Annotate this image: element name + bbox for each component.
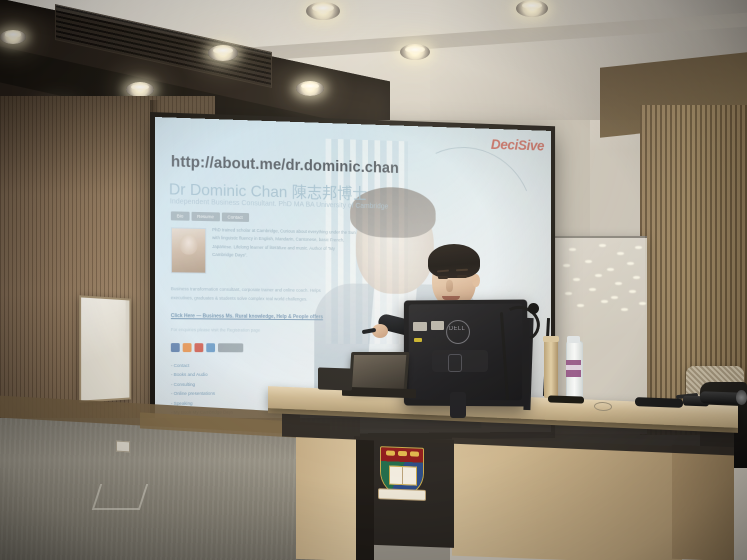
dell-logo-text: DELL xyxy=(447,326,467,332)
crest-lion-3 xyxy=(410,451,419,456)
floor-marking xyxy=(92,484,148,510)
slide-list-item-1: Contact xyxy=(171,361,233,370)
marker-pen-2 xyxy=(635,397,683,408)
tumbler-cup xyxy=(544,338,558,398)
email-icon xyxy=(218,343,243,352)
monitor-label-2 xyxy=(431,321,444,330)
av-control-box[interactable] xyxy=(318,367,352,390)
handheld-microphone-grille xyxy=(736,390,747,405)
slide-bio-paragraph: PhD trained scholar at Cambridge, Curiou… xyxy=(212,226,356,261)
water-bottle-label-band xyxy=(566,365,581,370)
ceiling-downlight-3 xyxy=(516,0,548,17)
weibo-icon xyxy=(206,343,215,352)
slide-tab-contact: Contact xyxy=(222,212,249,221)
ceiling-downlight-7 xyxy=(296,81,324,96)
slide-list-item-3: Consulting xyxy=(171,380,233,389)
monitor-neck xyxy=(450,392,466,418)
gooseneck-microphone-head xyxy=(528,303,539,314)
ceiling-downlight-4 xyxy=(208,45,238,61)
slide-profile-thumbnail xyxy=(171,227,206,273)
marker-pen-1 xyxy=(548,395,584,403)
twitter-icon xyxy=(194,343,203,352)
slide-tab-resume: Resume xyxy=(191,212,219,222)
tumbler-lid xyxy=(543,336,559,342)
linkedin-icon xyxy=(183,343,192,352)
presenter-ear xyxy=(472,274,480,287)
ceiling-downlight-6 xyxy=(126,82,154,97)
crest-motto-scroll xyxy=(378,488,426,501)
laptop-screen xyxy=(352,355,406,389)
slide-social-icon-row xyxy=(171,343,243,352)
crest-open-book-icon xyxy=(389,466,417,486)
lectern-body-left xyxy=(296,437,356,560)
slide-caption: For enquiries please visit the Registrat… xyxy=(171,327,260,333)
crest-lion-2 xyxy=(398,451,407,456)
presenter-nose xyxy=(446,280,453,292)
whiteboard-left-sheen xyxy=(81,298,126,397)
presenter-eye-left xyxy=(438,276,448,279)
presenter-hair xyxy=(428,244,480,278)
lecture-hall-screenshot: DeciSive http://about.me/dr.dominic.chan… xyxy=(0,0,747,560)
water-bottle-cap xyxy=(567,336,580,343)
cable-ring xyxy=(594,402,612,412)
monitor-sticker-led xyxy=(414,338,422,342)
slide-list-item-2: Books and Audio xyxy=(171,370,233,379)
ceiling-downlight-2 xyxy=(306,2,340,20)
lectern-body-far-right xyxy=(672,445,734,560)
ceiling-downlight-5 xyxy=(400,44,430,60)
facebook-icon xyxy=(171,343,180,352)
slide-tab-bio: Bio xyxy=(171,211,189,220)
slide-link-line: Click Here — Business Ms. Rural knowledg… xyxy=(171,313,323,320)
decisive-logo: DeciSive xyxy=(491,136,544,154)
ceiling-downlight-1 xyxy=(0,30,26,44)
wall-power-outlet xyxy=(116,441,130,453)
lectern-body-right xyxy=(452,438,682,560)
presenter-eye-right xyxy=(457,275,467,278)
slide-bio-paragraph-2: Business transformation consultant, corp… xyxy=(171,285,335,304)
slide-tab-row: BioResumeContact xyxy=(171,211,249,222)
monitor-label-1 xyxy=(413,322,427,331)
university-crest-emblem xyxy=(380,446,422,502)
monitor-stand-button[interactable] xyxy=(448,354,462,372)
crest-lion-1 xyxy=(386,450,395,455)
slide-list-item-4: Online presentations xyxy=(171,389,233,399)
